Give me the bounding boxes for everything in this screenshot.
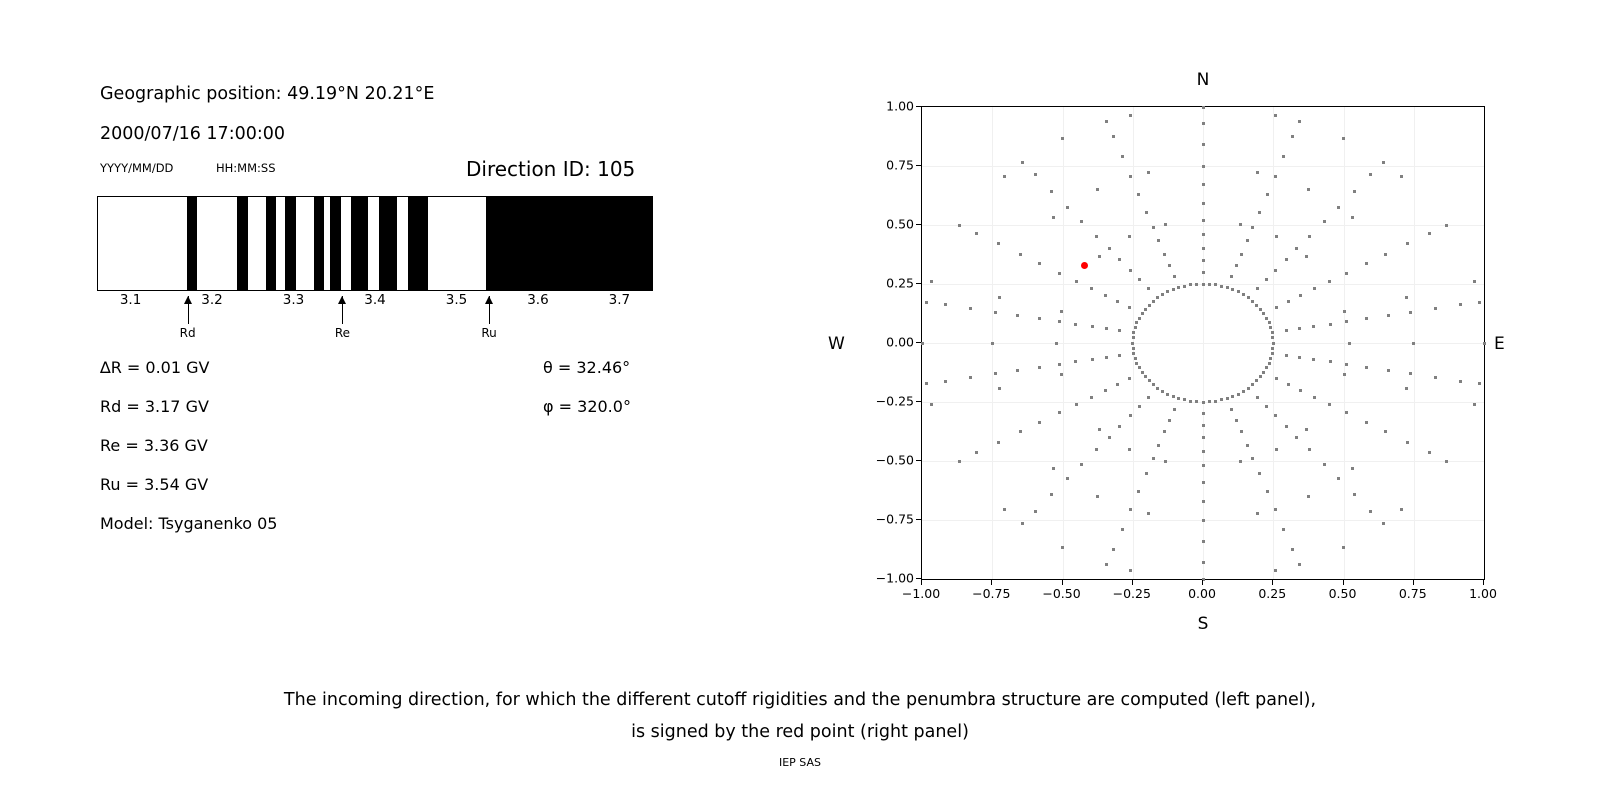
direction-sample-dot xyxy=(1050,493,1053,496)
direction-sample-dot xyxy=(1256,512,1259,515)
sky-map-y-tick: −0.75 xyxy=(844,512,914,527)
direction-sample-dot xyxy=(1058,411,1061,414)
direction-sample-dot xyxy=(1131,342,1134,345)
sky-map-y-tick: 0.50 xyxy=(844,217,914,232)
direction-sample-dot xyxy=(1262,312,1265,315)
direction-sample-dot xyxy=(1118,258,1121,261)
direction-sample-dot xyxy=(1323,220,1326,223)
direction-sample-dot xyxy=(1251,300,1254,303)
direction-sample-dot xyxy=(1202,500,1205,503)
sky-map-x-tick: −1.00 xyxy=(902,586,940,601)
sky-map-x-tick: 0.00 xyxy=(1188,586,1216,601)
direction-sample-dot xyxy=(925,301,928,304)
direction-sample-dot xyxy=(1400,175,1403,178)
direction-sample-dot xyxy=(1312,325,1315,328)
direction-sample-dot xyxy=(1061,137,1064,140)
direction-sample-dot xyxy=(1138,366,1141,369)
direction-sample-dot xyxy=(1282,528,1285,531)
direction-sample-dot xyxy=(1266,193,1269,196)
direction-sample-dot xyxy=(1255,379,1258,382)
direction-sample-dot xyxy=(1163,430,1166,433)
direction-sample-dot xyxy=(1202,401,1205,404)
direction-sample-dot xyxy=(975,451,978,454)
sky-map-y-tick-mark xyxy=(916,224,921,225)
direction-sample-dot xyxy=(1409,372,1412,375)
direction-sample-dot xyxy=(1202,271,1205,274)
direction-sample-dot xyxy=(1256,171,1259,174)
direction-sample-dot xyxy=(1003,508,1006,511)
direction-sample-dot xyxy=(1291,135,1294,138)
penumbra-allowed-band xyxy=(266,197,276,290)
direction-sample-dot xyxy=(1328,403,1331,406)
sky-map-y-tick: 1.00 xyxy=(844,99,914,114)
direction-sample-dot xyxy=(1055,342,1058,345)
direction-sample-dot xyxy=(1255,304,1258,307)
direction-sample-dot xyxy=(1138,405,1141,408)
direction-sample-dot xyxy=(1242,390,1245,393)
direction-sample-dot xyxy=(1329,360,1332,363)
direction-sample-dot xyxy=(1268,362,1271,365)
sky-map-x-tick-mark xyxy=(921,580,922,585)
direction-sample-dot xyxy=(1220,398,1223,401)
direction-sample-dot xyxy=(1152,300,1155,303)
direction-sample-dot xyxy=(1091,358,1094,361)
penumbra-strip xyxy=(97,196,653,291)
figure-caption: The incoming direction, for which the di… xyxy=(0,684,1600,748)
direction-sample-dot xyxy=(1147,396,1150,399)
direction-sample-dot xyxy=(1251,226,1254,229)
direction-sample-dot xyxy=(1295,247,1298,250)
direction-sample-dot xyxy=(1214,283,1217,286)
grid-line-horizontal xyxy=(922,461,1484,462)
penumbra-markers: RdReRu xyxy=(97,296,655,346)
direction-sample-dot xyxy=(1202,412,1205,415)
direction-sample-dot xyxy=(1202,165,1205,168)
caption-line-2: is signed by the red point (right panel) xyxy=(0,716,1600,748)
direction-sample-dot xyxy=(1183,398,1186,401)
direction-sample-dot xyxy=(1342,137,1345,140)
direction-sample-dot xyxy=(1202,283,1205,286)
sky-map-y-tick-mark xyxy=(916,342,921,343)
direction-sample-dot xyxy=(1052,467,1055,470)
direction-sample-dot xyxy=(1095,448,1098,451)
direction-sample-dot xyxy=(1305,255,1308,258)
direction-sample-dot xyxy=(944,303,947,306)
penumbra-allowed-band xyxy=(285,197,296,290)
direction-sample-dot xyxy=(1183,285,1186,288)
direction-sample-dot xyxy=(997,441,1000,444)
penumbra-allowed-band xyxy=(237,197,248,290)
direction-sample-dot xyxy=(1412,342,1415,345)
direction-sample-dot xyxy=(1156,296,1159,299)
direction-sample-dot xyxy=(998,296,1001,299)
caption-line-1: The incoming direction, for which the di… xyxy=(0,684,1600,716)
direction-sample-dot xyxy=(1156,387,1159,390)
direction-sample-dot xyxy=(1195,400,1198,403)
direction-sample-dot xyxy=(1128,448,1131,451)
direction-sample-dot xyxy=(1177,286,1180,289)
direction-sample-dot xyxy=(1050,190,1053,193)
direction-sample-dot xyxy=(1173,408,1176,411)
sky-map-y-tick-mark xyxy=(916,519,921,520)
sky-map-x-tick-mark xyxy=(1202,580,1203,585)
direction-sample-dot xyxy=(1038,421,1041,424)
parameter-line: Rd = 3.17 GV xyxy=(100,397,209,416)
direction-sample-dot xyxy=(1274,508,1277,511)
compass-north-label: N xyxy=(1197,70,1210,90)
direction-sample-dot xyxy=(1021,522,1024,525)
direction-sample-dot xyxy=(1287,383,1290,386)
sky-map-x-tick: 0.75 xyxy=(1399,586,1427,601)
direction-sample-dot xyxy=(1132,347,1135,350)
direction-sample-dot xyxy=(1298,327,1301,330)
direction-sample-dot xyxy=(1095,235,1098,238)
direction-sample-dot xyxy=(1038,317,1041,320)
direction-sample-dot xyxy=(1256,396,1259,399)
direction-sample-dot xyxy=(1157,239,1160,242)
direction-sample-dot xyxy=(1074,360,1077,363)
direction-sample-dot xyxy=(1337,477,1340,480)
penumbra-chart xyxy=(97,196,653,291)
direction-sample-dot xyxy=(1328,280,1331,283)
direction-sample-dot xyxy=(1118,425,1121,428)
direction-sample-dot xyxy=(1148,304,1151,307)
direction-sample-dot xyxy=(1473,403,1476,406)
direction-sample-dot xyxy=(1129,414,1132,417)
penumbra-marker-label: Ru xyxy=(481,326,496,340)
direction-sample-dot xyxy=(1019,430,1022,433)
direction-sample-dot xyxy=(1075,280,1078,283)
direction-sample-dot xyxy=(1129,269,1132,272)
direction-sample-dot xyxy=(1329,323,1332,326)
direction-sample-dot xyxy=(1275,377,1278,380)
parameter-line: Ru = 3.54 GV xyxy=(100,475,208,494)
direction-sample-dot xyxy=(1251,457,1254,460)
direction-sample-dot xyxy=(1445,224,1448,227)
direction-sample-dot xyxy=(1343,373,1346,376)
direction-sample-dot xyxy=(1129,114,1132,117)
penumbra-allowed-band xyxy=(486,197,652,290)
direction-sample-dot xyxy=(1240,253,1243,256)
direction-sample-dot xyxy=(1434,376,1437,379)
direction-sample-dot xyxy=(1016,314,1019,317)
direction-sample-dot xyxy=(1034,173,1037,176)
direction-sample-dot xyxy=(944,380,947,383)
direction-sample-dot xyxy=(1287,300,1290,303)
direction-sample-dot xyxy=(1271,352,1274,355)
direction-sample-dot xyxy=(1129,175,1132,178)
direction-sample-dot xyxy=(1275,448,1278,451)
direction-sample-dot xyxy=(1239,223,1242,226)
direction-sample-dot xyxy=(1351,216,1354,219)
penumbra-marker-label: Re xyxy=(335,326,350,340)
direction-sample-dot xyxy=(991,342,994,345)
direction-sample-dot xyxy=(997,242,1000,245)
direction-sample-dot xyxy=(1152,383,1155,386)
direction-sample-dot xyxy=(1246,239,1249,242)
direction-sample-dot xyxy=(1226,397,1229,400)
direction-sample-dot xyxy=(1269,326,1272,329)
direction-sample-dot xyxy=(1265,278,1268,281)
direction-sample-dot xyxy=(1365,366,1368,369)
direction-sample-dot xyxy=(1266,490,1269,493)
direction-sample-dot xyxy=(1108,247,1111,250)
direction-sample-dot xyxy=(1091,325,1094,328)
direction-sample-dot xyxy=(1138,278,1141,281)
angle-parameter-line: θ = 32.46° xyxy=(543,358,630,377)
direction-sample-dot xyxy=(1400,508,1403,511)
penumbra-allowed-band xyxy=(314,197,325,290)
direction-sample-dot xyxy=(1161,390,1164,393)
direction-sample-dot xyxy=(1034,510,1037,513)
direction-sample-dot xyxy=(1382,522,1385,525)
direction-sample-dot xyxy=(1038,262,1041,265)
sky-map-x-tick-mark xyxy=(1062,580,1063,585)
direction-sample-dot xyxy=(1274,414,1277,417)
direction-sample-dot xyxy=(994,372,997,375)
direction-sample-dot xyxy=(925,382,928,385)
direction-sample-dot xyxy=(1145,211,1148,214)
direction-sample-dot xyxy=(1459,303,1462,306)
direction-sample-dot xyxy=(1166,290,1169,293)
direction-sample-dot xyxy=(1148,379,1151,382)
geographic-position-label: Geographic position: 49.19°N 20.21°E xyxy=(100,84,435,104)
direction-sample-dot xyxy=(1132,352,1135,355)
direction-sample-dot xyxy=(1173,275,1176,278)
direction-sample-dot xyxy=(1202,464,1205,467)
sky-map-y-tick-mark xyxy=(916,401,921,402)
direction-sample-dot xyxy=(1161,293,1164,296)
direction-sample-dot xyxy=(1202,259,1205,262)
direction-sample-dot xyxy=(1152,457,1155,460)
parameter-line: Re = 3.36 GV xyxy=(100,436,208,455)
direction-sample-dot xyxy=(1202,481,1205,484)
direction-sample-dot xyxy=(1247,387,1250,390)
direction-sample-dot xyxy=(1135,362,1138,365)
direction-sample-dot xyxy=(1134,357,1137,360)
direction-sample-dot xyxy=(1189,400,1192,403)
grid-line-horizontal xyxy=(922,225,1484,226)
sky-map-y-tick-mark xyxy=(916,165,921,166)
direction-sample-dot xyxy=(1382,161,1385,164)
direction-sample-dot xyxy=(1387,314,1390,317)
direction-sample-dot xyxy=(1202,519,1205,522)
direction-sample-dot xyxy=(1342,546,1345,549)
direction-sample-dot xyxy=(1308,448,1311,451)
direction-sample-dot xyxy=(1060,373,1063,376)
direction-sample-dot xyxy=(1291,548,1294,551)
direction-sample-dot xyxy=(1295,436,1298,439)
direction-sample-dot xyxy=(1104,389,1107,392)
direction-sample-dot xyxy=(1214,400,1217,403)
direction-sample-dot xyxy=(1112,548,1115,551)
direction-sample-dot xyxy=(1105,356,1108,359)
direction-sample-dot xyxy=(1066,206,1069,209)
direction-sample-dot xyxy=(1337,206,1340,209)
direction-sample-dot xyxy=(1231,395,1234,398)
sky-map-x-tick-mark xyxy=(1413,580,1414,585)
direction-sample-dot xyxy=(1351,467,1354,470)
direction-sample-dot xyxy=(1345,272,1348,275)
direction-sample-dot xyxy=(1172,288,1175,291)
direction-sample-dot xyxy=(1271,347,1274,350)
direction-sample-dot xyxy=(1282,155,1285,158)
direction-sample-dot xyxy=(1405,387,1408,390)
direction-sample-dot xyxy=(1298,356,1301,359)
sky-map-x-tick: 0.25 xyxy=(1258,586,1286,601)
direction-sample-dot xyxy=(1405,296,1408,299)
direction-sample-dot xyxy=(1208,283,1211,286)
direction-sample-dot xyxy=(1235,419,1238,422)
time-format-hint: HH:MM:SS xyxy=(216,161,276,175)
direction-sample-dot xyxy=(1168,419,1171,422)
direction-sample-dot xyxy=(1478,301,1481,304)
direction-sample-dot xyxy=(1090,287,1093,290)
penumbra-marker-arrow xyxy=(342,296,343,324)
direction-sample-dot xyxy=(998,387,1001,390)
direction-sample-dot xyxy=(1189,283,1192,286)
parameter-line: ∆R = 0.01 GV xyxy=(100,358,209,377)
direction-sample-dot xyxy=(1168,264,1171,267)
direction-sample-dot xyxy=(1147,287,1150,290)
direction-sample-dot xyxy=(1268,321,1271,324)
direction-sample-dot xyxy=(1242,293,1245,296)
direction-sample-dot xyxy=(1299,294,1302,297)
direction-sample-dot xyxy=(1105,120,1108,123)
direction-sample-dot xyxy=(1152,226,1155,229)
direction-sample-dot xyxy=(1147,171,1150,174)
direction-sample-dot xyxy=(1096,495,1099,498)
sky-map-y-tick: −0.50 xyxy=(844,453,914,468)
direction-sample-dot xyxy=(1172,395,1175,398)
direction-sample-dot xyxy=(1237,290,1240,293)
direction-sample-dot xyxy=(1129,569,1132,572)
direction-sample-dot xyxy=(1285,354,1288,357)
direction-sample-dot xyxy=(1021,161,1024,164)
direction-sample-dot xyxy=(1384,430,1387,433)
sky-map-y-tick: −0.25 xyxy=(844,394,914,409)
direction-sample-dot xyxy=(1251,383,1254,386)
direction-sample-dot xyxy=(1237,393,1240,396)
direction-sample-dot xyxy=(958,224,961,227)
direction-sample-dot xyxy=(1285,329,1288,332)
sky-map-x-tick-mark xyxy=(991,580,992,585)
direction-sample-dot xyxy=(1195,283,1198,286)
direction-sample-dot xyxy=(1166,393,1169,396)
direction-sample-dot xyxy=(1137,193,1140,196)
direction-sample-dot xyxy=(1052,216,1055,219)
direction-sample-dot xyxy=(1434,307,1437,310)
direction-sample-dot xyxy=(1369,510,1372,513)
direction-sample-dot xyxy=(1406,441,1409,444)
direction-sample-dot xyxy=(1096,188,1099,191)
direction-sample-dot xyxy=(1226,286,1229,289)
direction-sample-dot xyxy=(1016,369,1019,372)
direction-sample-dot xyxy=(1105,327,1108,330)
direction-sample-dot xyxy=(1298,563,1301,566)
direction-sample-dot xyxy=(1202,561,1205,564)
direction-sample-dot xyxy=(1080,220,1083,223)
direction-sample-dot xyxy=(1164,223,1167,226)
direction-sample-dot xyxy=(1428,451,1431,454)
direction-sample-dot xyxy=(1121,155,1124,158)
direction-sample-dot xyxy=(1118,354,1121,357)
direction-sample-dot xyxy=(1345,363,1348,366)
direction-sample-dot xyxy=(1265,405,1268,408)
sky-map-x-tick-mark xyxy=(1343,580,1344,585)
direction-sample-dot xyxy=(1112,135,1115,138)
direction-sample-dot xyxy=(1271,331,1274,334)
direction-sample-dot xyxy=(1365,317,1368,320)
direction-sample-dot xyxy=(1075,403,1078,406)
direction-sample-dot xyxy=(1313,396,1316,399)
direction-sample-dot xyxy=(1019,253,1022,256)
sky-map-axes xyxy=(921,106,1485,580)
direction-sample-dot xyxy=(1272,342,1275,345)
direction-sample-dot xyxy=(1220,285,1223,288)
direction-sample-dot xyxy=(1134,326,1137,329)
direction-sample-dot xyxy=(1202,143,1205,146)
sky-map-x-tick-mark xyxy=(1272,580,1273,585)
angle-parameter-line: φ = 320.0° xyxy=(543,397,631,416)
direction-sample-dot xyxy=(1132,331,1135,334)
direction-sample-dot xyxy=(1202,233,1205,236)
direction-sample-dot xyxy=(1285,258,1288,261)
compass-west-label: W xyxy=(828,334,845,354)
direction-id-label: Direction ID: 105 xyxy=(466,157,635,181)
direction-sample-dot xyxy=(1202,106,1205,109)
direction-sample-dot xyxy=(1202,183,1205,186)
direction-sample-dot xyxy=(1061,546,1064,549)
sky-map-x-tick: −0.75 xyxy=(972,586,1010,601)
direction-sample-dot xyxy=(1066,477,1069,480)
direction-sample-dot xyxy=(1274,269,1277,272)
direction-sample-dot xyxy=(1483,342,1486,345)
direction-sample-dot xyxy=(1177,397,1180,400)
penumbra-marker-label: Rd xyxy=(180,326,196,340)
direction-sample-dot xyxy=(1365,262,1368,265)
direction-sample-dot xyxy=(1406,242,1409,245)
direction-sample-dot xyxy=(1307,188,1310,191)
direction-sample-dot xyxy=(1305,428,1308,431)
direction-sample-dot xyxy=(1116,300,1119,303)
selected-direction-point[interactable] xyxy=(1081,262,1088,269)
direction-sample-dot xyxy=(1409,311,1412,314)
direction-sample-dot xyxy=(1271,336,1274,339)
direction-sample-dot xyxy=(1269,357,1272,360)
direction-sample-dot xyxy=(1128,306,1131,309)
left-panel: Geographic position: 49.19°N 20.21°E 200… xyxy=(0,0,760,660)
direction-sample-dot xyxy=(1132,336,1135,339)
sky-map-y-tick: 0.75 xyxy=(844,158,914,173)
direction-sample-dot xyxy=(1265,366,1268,369)
direction-sample-dot xyxy=(1387,369,1390,372)
direction-sample-dot xyxy=(1265,317,1268,320)
direction-sample-dot xyxy=(1308,235,1311,238)
direction-sample-dot xyxy=(1135,321,1138,324)
direction-sample-dot xyxy=(1274,114,1277,117)
direction-sample-dot xyxy=(1202,247,1205,250)
direction-sample-dot xyxy=(1060,310,1063,313)
sky-map-y-tick-mark xyxy=(916,106,921,107)
direction-sample-dot xyxy=(1285,425,1288,428)
direction-sample-dot xyxy=(1353,190,1356,193)
direction-sample-dot xyxy=(1345,320,1348,323)
sky-map-y-tick-mark xyxy=(916,283,921,284)
direction-sample-dot xyxy=(1365,421,1368,424)
direction-sample-dot xyxy=(1128,377,1131,380)
penumbra-allowed-band xyxy=(351,197,369,290)
